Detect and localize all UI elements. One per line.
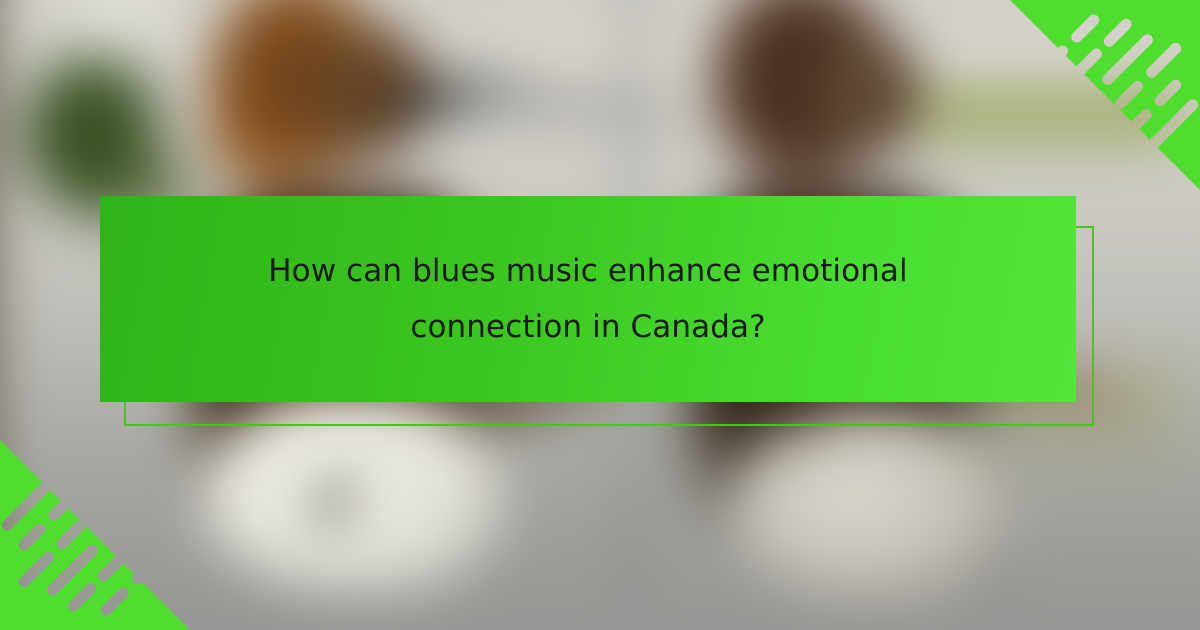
guitar-second-body bbox=[730, 410, 1010, 600]
question-banner: How can blues music enhance emotional co… bbox=[100, 196, 1076, 402]
wooden-post-edge bbox=[0, 0, 6, 620]
guitarist-right-face bbox=[816, 32, 922, 158]
social-card: How can blues music enhance emotional co… bbox=[0, 0, 1200, 630]
grass-strip bbox=[920, 90, 1180, 170]
question-title: How can blues music enhance emotional co… bbox=[208, 243, 968, 355]
